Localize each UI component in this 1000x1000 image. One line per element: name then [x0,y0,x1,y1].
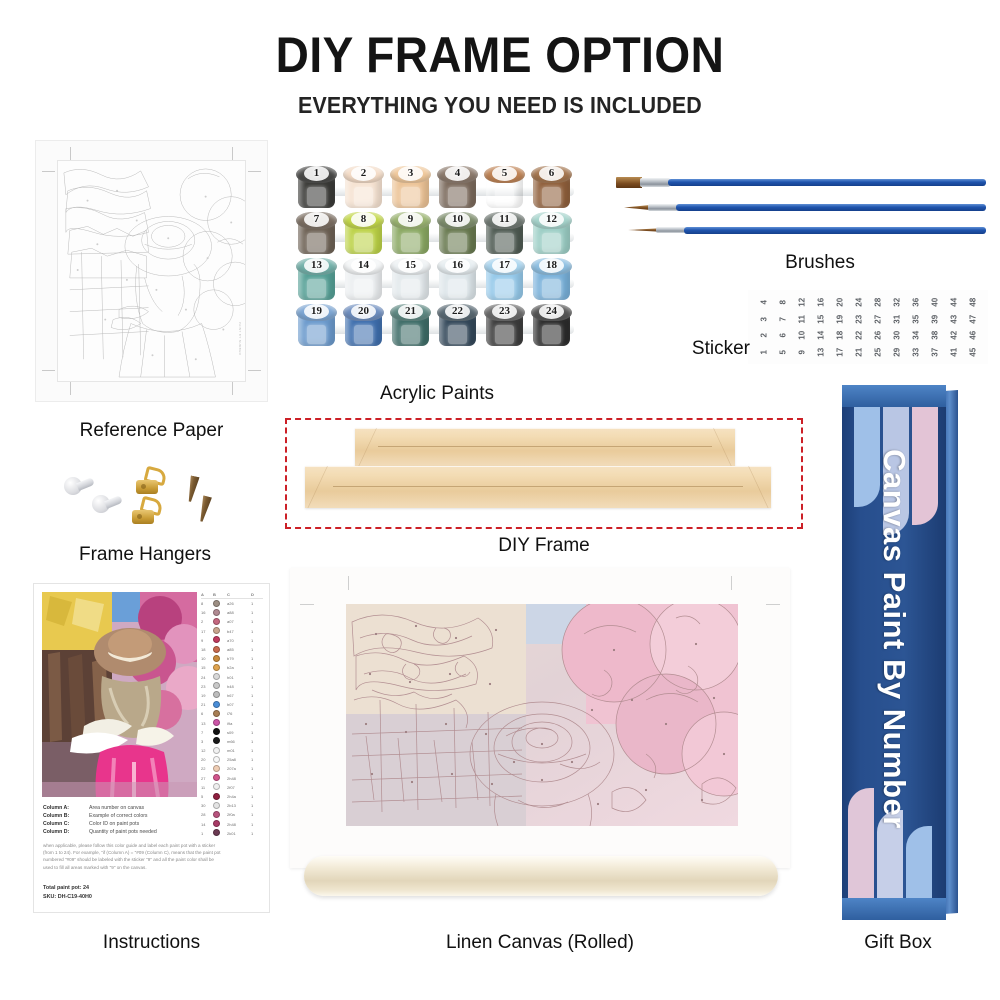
legend-area-number: 9 [201,638,213,643]
screw [185,475,199,502]
instructions-column-key-desc: Quantity of paint pots needed [89,828,157,836]
legend-swatch [213,774,227,782]
paint-pot-number: 19 [296,305,337,317]
d-ring-hanger [136,468,166,494]
color-legend-row: 272h481 [201,774,263,783]
legend-swatch [213,600,227,608]
legend-color-id: 2f07 [227,785,251,790]
legend-swatch [213,765,227,773]
paint-pot-8: 8 [343,212,384,256]
paint-pot-number: 17 [484,259,525,271]
gift-box-title-line2: Paint By Number [877,572,912,829]
legend-quantity: 1 [251,803,261,808]
legend-quantity: 1 [251,831,261,836]
legend-color-id: m66 [227,739,251,744]
legend-color-id: a07 [227,619,251,624]
legend-swatch-dot [213,682,220,689]
legend-area-number: 15 [201,665,213,670]
gift-box-stripe [912,407,938,525]
paint-pot-row: 123456 [296,166,578,212]
paint-pot-22: 22 [437,304,478,348]
legend-swatch [213,655,227,663]
legend-color-id: 2b13 [227,803,251,808]
instructions-card: A B C D 8a26116a8812a07117b4719a70118a85… [33,583,270,913]
product-infographic: DIY FRAME OPTION EVERYTHING YOU NEED IS … [0,0,1000,1000]
crop-mark [232,147,233,160]
legend-col-a: A [201,592,213,597]
legend-swatch-dot [213,691,220,698]
paint-pot-15: 15 [390,258,431,302]
crop-mark [300,604,314,605]
paint-pot-5: 5 [484,166,525,210]
legend-swatch [213,636,227,644]
crop-mark [70,382,71,395]
legend-swatch-dot [213,728,220,735]
instructions-column-key-desc: Area number on canvas [89,804,144,812]
paint-pot-14: 14 [343,258,384,302]
sticker-number: 5 [774,342,791,361]
legend-swatch [213,609,227,617]
paint-pot-23: 23 [484,304,525,348]
gift-box-title: Canvas Paint By Number [876,409,912,869]
page-title: DIY FRAME OPTION [40,26,960,84]
paint-pot-row: 131415161718 [296,258,578,304]
instructions-column-key-label: Column C: [43,820,83,828]
paint-pot-12: 12 [531,212,572,256]
legend-quantity: 1 [251,757,261,762]
crop-mark [42,171,55,172]
color-legend-row: 2025a81 [201,755,263,764]
legend-color-id: h48 [227,684,251,689]
legend-color-id: h67 [227,693,251,698]
paint-pot-number: 10 [437,213,478,225]
paint-pot-18: 18 [531,258,572,302]
instructions-column-line: Column A:Area number on canvas [43,804,223,812]
paint-pot-13: 13 [296,258,337,302]
page-subtitle: EVERYTHING YOU NEED IS INCLUDED [35,92,965,119]
legend-color-id: b79 [227,656,251,661]
paint-pot-4: 4 [437,166,478,210]
paint-pot-19: 19 [296,304,337,348]
legend-quantity: 1 [251,647,261,652]
legend-quantity: 1 [251,702,261,707]
paint-pot-number: 11 [484,213,525,225]
paint-pot-number: 12 [531,213,572,225]
color-legend-row: 24h011 [201,673,263,682]
legend-swatch-dot [213,646,220,653]
legend-area-number: 21 [201,702,213,707]
instructions-column-key-label: Column B: [43,812,83,820]
legend-quantity: 1 [251,601,261,606]
legend-color-id: a26 [227,601,251,606]
legend-quantity: 1 [251,619,261,624]
frame-slat [305,466,771,508]
canvas-roll [304,856,778,896]
color-legend-row: 8a261 [201,599,263,608]
legend-quantity: 1 [251,730,261,735]
gift-box: Canvas Paint By Number [836,385,960,920]
crop-mark [232,382,233,395]
legend-swatch-dot [213,636,220,643]
legend-area-number: 6 [201,711,213,716]
legend-color-id: 2k01 [227,831,251,836]
legend-area-number: 20 [201,757,213,762]
d-ring-hanger [132,498,162,524]
legend-area-number: 23 [201,684,213,689]
paint-pot-1: 1 [296,166,337,210]
legend-swatch-dot [213,793,220,800]
legend-swatch-dot [213,673,220,680]
brushes-group [616,178,986,244]
legend-color-id: s09 [227,730,251,735]
paint-pot-number: 6 [531,167,572,179]
legend-color-id: a88 [227,610,251,615]
paint-pot-number: 21 [390,305,431,317]
legend-quantity: 1 [251,638,261,643]
sticker-sheet: 4812162024283236404448371115192327313539… [748,290,988,364]
legend-swatch [213,793,227,801]
paint-pot-7: 7 [296,212,337,256]
color-legend-row: 22207a1 [201,764,263,773]
instructions-column-key-label: Column D: [43,828,83,836]
legend-quantity: 1 [251,785,261,790]
paint-pot-3: 3 [390,166,431,210]
legend-area-number: 10 [201,656,213,661]
color-legend-row: 19h671 [201,691,263,700]
color-legend-row: 6i761 [201,709,263,718]
round-brush-fine [628,226,986,236]
crop-mark [70,147,71,160]
legend-swatch-dot [213,747,220,754]
legend-quantity: 1 [251,656,261,661]
legend-quantity: 1 [251,693,261,698]
sticker-number: 25 [869,342,886,361]
legend-area-number: 2 [201,619,213,624]
legend-swatch [213,673,227,681]
total-paint-pot-line: Total paint pot: 24 [43,884,223,893]
legend-swatch-dot [213,627,220,634]
caption-frame-hangers: Frame Hangers [50,544,240,566]
legend-area-number: 12 [201,748,213,753]
legend-quantity: 1 [251,711,261,716]
instructions-column-key-desc: Color ID on paint pots [89,820,139,828]
color-legend-row: 7s091 [201,728,263,737]
legend-swatch [213,664,227,672]
color-legend-row: 3m661 [201,737,263,746]
paint-pot-number: 7 [296,213,337,225]
paint-pot-row: 789101112 [296,212,578,258]
legend-swatch [213,728,227,736]
caption-diy-frame: DIY Frame [285,535,803,557]
instructions-body-text: when applicable, please follow this colo… [43,842,223,871]
sticker-number: 13 [812,342,829,361]
crop-mark [248,171,261,172]
legend-quantity: 1 [251,684,261,689]
legend-swatch [213,756,227,764]
paint-pot-number: 8 [343,213,384,225]
legend-swatch-dot [213,765,220,772]
color-legend-row: 17b471 [201,627,263,636]
paint-pot-9: 9 [390,212,431,256]
paint-pot-number: 1 [296,167,337,179]
paint-pot-number: 18 [531,259,572,271]
sku-line: SKU: DH-C19-40H0 [43,893,223,902]
legend-color-id: 207a [227,766,251,771]
legend-swatch [213,618,227,626]
legend-color-id: b2a [227,665,251,670]
frame-slat [355,428,735,466]
caption-brushes: Brushes [740,252,900,274]
legend-area-number: 8 [201,601,213,606]
legend-quantity: 1 [251,812,261,817]
instructions-footer: Total paint pot: 24 SKU: DH-C19-40H0 [43,884,223,902]
screw [197,495,212,522]
legend-color-id: 2h48 [227,776,251,781]
gift-box-cap-bottom [842,898,946,920]
color-legend-row: 21h071 [201,700,263,709]
color-legend-table: A B C D 8a26116a8812a07117b4719a70118a85… [201,592,263,832]
legend-swatch-dot [213,600,220,607]
paint-pot-number: 16 [437,259,478,271]
legend-quantity: 1 [251,629,261,634]
acrylic-paints-grid: 123456789101112131415161718192021222324 [296,166,578,348]
color-legend-row: 9a701 [201,636,263,645]
paint-pot-number: 4 [437,167,478,179]
legend-swatch-dot [213,701,220,708]
paint-pot-16: 16 [437,258,478,302]
legend-area-number: 24 [201,675,213,680]
sticker-number: 45 [964,342,981,361]
legend-swatch-dot [213,618,220,625]
legend-color-id: i9a [227,721,251,726]
gift-box-cap-top [842,385,946,407]
sticker-number: 33 [907,342,924,361]
legend-color-id: h07 [227,702,251,707]
legend-area-number: 16 [201,610,213,615]
canvas-sheet [290,568,790,868]
flat-brush [616,178,986,188]
legend-color-id: 2h48 [227,822,251,827]
paint-pot-number: 2 [343,167,384,179]
total-paint-pot-label: Total paint pot: [43,885,82,891]
legend-area-number: 19 [201,693,213,698]
legend-quantity: 1 [251,721,261,726]
paint-pot-10: 10 [437,212,478,256]
paint-pot-number: 23 [484,305,525,317]
legend-color-id: a85 [227,647,251,652]
crop-mark [348,576,349,590]
legend-quantity: 1 [251,748,261,753]
legend-area-number: 17 [201,629,213,634]
legend-area-number: 13 [201,721,213,726]
sticker-number: 1 [755,342,772,361]
legend-color-id: i76 [227,711,251,716]
diy-frame-highlight [285,418,803,529]
legend-col-d: D [251,592,261,597]
wall-anchor [64,474,94,496]
legend-color-id: 2f0a [227,812,251,817]
caption-linen-canvas: Linen Canvas (Rolled) [290,932,790,954]
legend-quantity: 1 [251,766,261,771]
legend-color-id: m01 [227,748,251,753]
caption-sticker: Sticker [660,338,750,360]
legend-swatch [213,691,227,699]
legend-area-number: 11 [201,785,213,790]
legend-swatch [213,747,227,755]
legend-swatch-dot [213,774,220,781]
crop-mark [766,604,780,605]
caption-instructions: Instructions [33,932,270,954]
reference-paper-side-text: PAINT BY NUMBER [238,322,242,355]
crop-mark [731,576,732,590]
paint-pot-24: 24 [531,304,572,348]
legend-swatch [213,701,227,709]
sku-label: SKU: [43,894,56,900]
crop-mark [42,370,55,371]
gift-box-front: Canvas Paint By Number [842,385,946,920]
legend-color-id: a70 [227,638,251,643]
instructions-column-key: Column A:Area number on canvasColumn B:E… [43,804,223,836]
legend-area-number: 5 [201,794,213,799]
paint-pot-number: 20 [343,305,384,317]
instructions-column-line: Column D:Quantity of paint pots needed [43,828,223,836]
paint-pot-number: 9 [390,213,431,225]
legend-swatch [213,710,227,718]
gift-box-stripe [848,788,874,898]
legend-quantity: 1 [251,822,261,827]
legend-swatch-dot [213,719,220,726]
legend-swatch [213,646,227,654]
sku-value: DH-C19-40H0 [58,894,92,900]
gift-box-title-line1: Canvas [877,449,912,562]
color-legend-row: 18a851 [201,645,263,654]
linen-canvas-rolled [290,568,790,913]
paint-pot-row: 192021222324 [296,304,578,350]
paint-pot-21: 21 [390,304,431,348]
legend-quantity: 1 [251,610,261,615]
round-brush-medium [624,203,986,213]
color-legend-row: 13i9a1 [201,718,263,727]
legend-swatch [213,737,227,745]
paint-pot-number: 24 [531,305,572,317]
color-legend-row: 2a071 [201,617,263,626]
legend-col-b: B [213,592,227,597]
caption-reference-paper: Reference Paper [35,420,268,442]
color-legend-row: 16a881 [201,608,263,617]
legend-area-number: 7 [201,730,213,735]
legend-color-id: 2h4a [227,794,251,799]
legend-swatch-dot [213,783,220,790]
reference-paper-lineart: PAINT BY NUMBER [57,160,246,382]
legend-area-number: 22 [201,766,213,771]
reference-paper: PAINT BY NUMBER [35,140,268,402]
color-legend-row: 15b2a1 [201,663,263,672]
paint-pot-number: 15 [390,259,431,271]
color-legend-row: 112f071 [201,783,263,792]
sticker-number: 29 [888,342,905,361]
instructions-artwork-preview [42,592,197,797]
legend-area-number: 18 [201,647,213,652]
instructions-column-line: Column B:Example of correct colors [43,812,223,820]
color-legend-row: 10b791 [201,654,263,663]
instructions-column-line: Column C:Color ID on paint pots [43,820,223,828]
legend-col-c: C [227,592,251,597]
canvas-printed-artwork [346,604,738,826]
legend-area-number: 27 [201,776,213,781]
gift-box-side [944,390,958,914]
wall-anchor [92,492,122,514]
legend-color-id: h01 [227,675,251,680]
sticker-number: 17 [831,342,848,361]
paint-pot-2: 2 [343,166,384,210]
total-paint-pot-value: 24 [83,885,89,891]
sticker-number: 9 [793,342,810,361]
legend-quantity: 1 [251,675,261,680]
legend-quantity: 1 [251,776,261,781]
legend-swatch-dot [213,737,220,744]
legend-swatch-dot [213,756,220,763]
legend-swatch [213,627,227,635]
sticker-number: 37 [926,342,943,361]
paint-pot-11: 11 [484,212,525,256]
legend-swatch [213,783,227,791]
caption-gift-box: Gift Box [836,932,960,954]
color-legend-row: 52h4a1 [201,792,263,801]
paint-pot-number: 14 [343,259,384,271]
legend-swatch [213,719,227,727]
paint-pot-17: 17 [484,258,525,302]
legend-swatch [213,682,227,690]
color-legend-header: A B C D [201,592,263,599]
legend-swatch-dot [213,710,220,717]
legend-color-id: 25a8 [227,757,251,762]
legend-swatch-dot [213,664,220,671]
legend-area-number: 3 [201,739,213,744]
paint-pot-number: 13 [296,259,337,271]
paint-pot-6: 6 [531,166,572,210]
legend-quantity: 1 [251,665,261,670]
caption-acrylic-paints: Acrylic Paints [296,383,578,405]
sticker-number: 21 [850,342,867,361]
paint-pot-20: 20 [343,304,384,348]
frame-hangers-group [60,462,230,538]
crop-mark [248,370,261,371]
legend-swatch-dot [213,655,220,662]
legend-quantity: 1 [251,739,261,744]
paint-pot-number: 3 [390,167,431,179]
legend-swatch-dot [213,609,220,616]
color-legend-row: 23h481 [201,682,263,691]
sticker-number: 41 [945,342,962,361]
legend-color-id: b47 [227,629,251,634]
instructions-column-key-label: Column A: [43,804,83,812]
legend-quantity: 1 [251,794,261,799]
paint-pot-number: 22 [437,305,478,317]
instructions-column-key-desc: Example of correct colors [89,812,148,820]
color-legend-row: 12m011 [201,746,263,755]
paint-pot-number: 5 [484,167,525,179]
